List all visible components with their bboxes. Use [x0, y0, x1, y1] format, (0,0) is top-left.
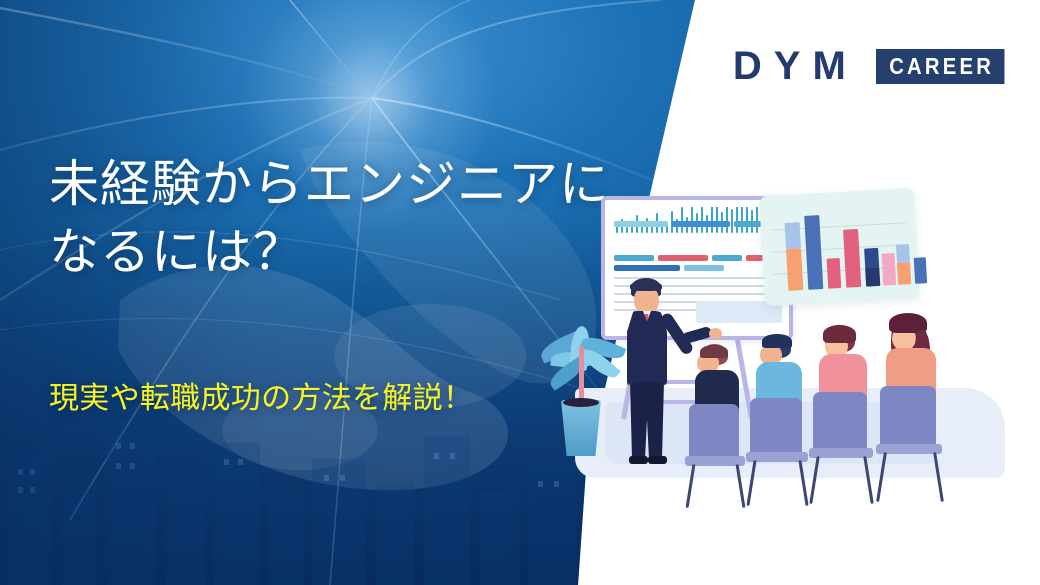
dym-career-banner: 未経験からエンジニアに なるには？ 現実や転職成功の方法を解説！ DYM CAR…: [0, 0, 1040, 585]
plant-stem: [579, 346, 584, 402]
seminar-illustration: [545, 150, 1015, 510]
dym-career-logo[interactable]: DYM CAREER: [731, 46, 1022, 86]
logo-brand-text: DYM: [731, 46, 858, 86]
page-subtitle: 現実や転職成功の方法を解説！: [49, 381, 473, 417]
bar-chart-panel: [759, 188, 920, 306]
plant-soil: [563, 398, 599, 407]
plant-pot: [561, 400, 601, 456]
logo-career-badge: CAREER: [876, 49, 1005, 84]
